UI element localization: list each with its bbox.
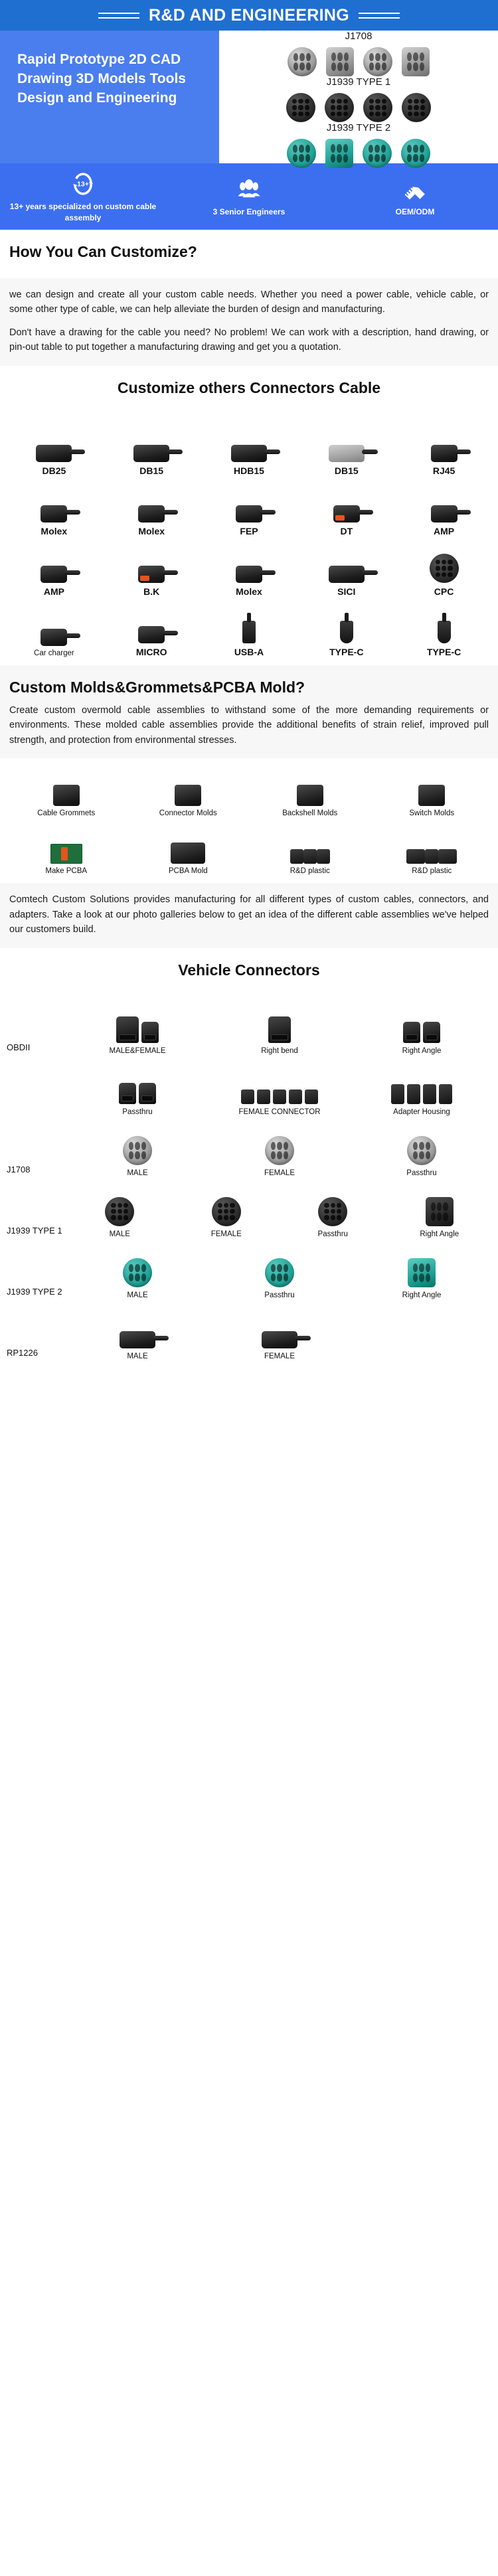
connector-j1939t1-2 <box>325 93 354 122</box>
connectors-gallery: DB25 DB15 HDB15 DB15 RJ45 Molex <box>0 414 498 665</box>
vehicle-row-j1939-type1: J1939 TYPE 1 MALE FEMALE Passthru Right … <box>0 1180 498 1241</box>
customize-title: How You Can Customize? <box>9 243 489 261</box>
vehicle-row-label: J1939 TYPE 2 <box>5 1287 66 1299</box>
stat-engineers: 3 Senior Engineers <box>166 175 332 218</box>
vehicle-cell-female-connector[interactable]: FEMALE CONNECTOR <box>208 1062 351 1116</box>
connector-caption: HDB15 <box>234 465 264 476</box>
vehicle-cell-j1939t1-male[interactable]: MALE <box>66 1184 173 1238</box>
connector-caption: DB15 <box>139 465 163 476</box>
j1939t1-passthru-icon <box>318 1184 347 1226</box>
plug-molex-angled-icon <box>138 481 165 523</box>
plug-micro-usb-icon <box>138 602 165 643</box>
mold-cell-make-pcba[interactable]: Make PCBA <box>5 819 127 876</box>
obd-passthru-pair-icon <box>119 1062 156 1104</box>
connector-j1939t1-1 <box>286 93 315 122</box>
solutions-paragraph-0: Comtech Custom Solutions provides manufa… <box>9 892 489 937</box>
mold-caption: Switch Molds <box>409 809 454 817</box>
vehicle-cell-rp1226-male[interactable]: MALE <box>66 1306 208 1360</box>
connector-caption: TYPE-C <box>427 647 461 657</box>
molds-prose: Create custom overmold cable assemblies … <box>9 703 489 748</box>
mold-caption: Make PCBA <box>45 867 87 875</box>
banner-title: R&D AND ENGINEERING <box>149 6 349 25</box>
pcba-mold-box-icon <box>171 823 205 864</box>
mold-cable-grommet-icon <box>53 765 80 806</box>
vehicle-caption: Passthru <box>264 1291 294 1299</box>
vehicle-row-j1939-type2: J1939 TYPE 2 MALE Passthru Right Angle <box>0 1241 498 1302</box>
mold-caption: PCBA Mold <box>169 867 208 875</box>
connector-j1708-3 <box>363 47 392 76</box>
plug-dsub-black-cable-icon <box>231 421 267 462</box>
vehicle-connectors-gallery: OBDII MALE&FEMALE Right bend Right Angle… <box>0 997 498 1363</box>
vehicle-row-j1708: J1708 MALE FEMALE Passthru <box>0 1119 498 1180</box>
j1708-passthru-icon <box>407 1123 436 1165</box>
vehicle-row-label: RP1226 <box>5 1348 66 1360</box>
svg-text:13+: 13+ <box>77 180 89 188</box>
connector-cell-molex-1[interactable]: Molex <box>5 477 103 538</box>
stat-engineers-text: 3 Senior Engineers <box>213 206 286 218</box>
connector-cell-dsub-db15[interactable]: DB15 <box>103 417 201 477</box>
vehicle-cell-j1939t2-right-angle[interactable]: Right Angle <box>351 1245 493 1299</box>
vehicle-caption: Right Angle <box>402 1047 442 1055</box>
connector-cell-amp-2[interactable]: AMP <box>5 538 103 598</box>
rd-engineering-banner: R&D AND ENGINEERING <box>0 0 498 31</box>
molds-row-0: Cable Grommets Connector Molds Backshell… <box>5 761 493 819</box>
j1708-male-icon <box>123 1123 152 1165</box>
hero-section: Rapid Prototype 2D CAD Drawing 3D Models… <box>0 31 498 163</box>
connector-cell-type-c-1[interactable]: TYPE-C <box>297 598 395 659</box>
plug-sici-scsi-icon <box>329 542 365 583</box>
company-stats-strip: 13+ 13+ years specialized on custom cabl… <box>0 163 498 230</box>
mold-cell-connector-molds[interactable]: Connector Molds <box>127 761 250 819</box>
connector-caption: Car charger <box>34 649 74 657</box>
connector-cell-molex-3[interactable]: Molex <box>201 538 298 598</box>
vehicle-cell-passthru[interactable]: Passthru <box>66 1062 208 1116</box>
obd-female-group-icon <box>241 1062 318 1104</box>
vehicle-caption: Passthru <box>318 1230 348 1238</box>
obd-right-angle-icon <box>403 1001 440 1043</box>
vehicle-cell-j1939t1-right-angle[interactable]: Right Angle <box>386 1184 493 1238</box>
stat-years: 13+ 13+ years specialized on custom cabl… <box>0 169 166 224</box>
plug-amp-round-icon <box>41 542 67 583</box>
vehicle-cell-j1708-passthru[interactable]: Passthru <box>351 1123 493 1177</box>
connectors-row-0: DB25 DB15 HDB15 DB15 RJ45 <box>5 417 493 477</box>
vehicle-caption: MALE <box>110 1230 130 1238</box>
vehicle-caption: Right Angle <box>402 1291 442 1299</box>
plug-rj45-icon <box>431 421 457 462</box>
hero-product-label-0: J1708 <box>219 31 498 42</box>
plug-dsub-gray-shell-icon <box>329 421 365 462</box>
hero-product-row-j1708 <box>219 42 498 76</box>
vehicle-caption: MALE <box>127 1352 147 1360</box>
vehicle-cell-j1939t1-female[interactable]: FEMALE <box>173 1184 280 1238</box>
rd-plastic-harness-icon <box>406 823 457 864</box>
vehicle-caption: FEMALE <box>211 1230 242 1238</box>
vehicle-cell-j1708-male[interactable]: MALE <box>66 1123 208 1177</box>
plug-dsub-white-cable-icon <box>133 421 169 462</box>
vehicle-cell-adapter-housing[interactable]: Adapter Housing <box>351 1062 493 1116</box>
vehicle-cell-j1939t1-passthru[interactable]: Passthru <box>280 1184 386 1238</box>
stat-years-text: 13+ years specialized on custom cable as… <box>0 201 166 224</box>
connector-j1939t2-2 <box>325 139 353 168</box>
plug-usb-a-icon <box>242 602 256 643</box>
connector-caption: RJ45 <box>433 465 455 476</box>
mold-caption: R&D plastic <box>290 867 330 875</box>
vehicle-caption: MALE <box>127 1169 147 1177</box>
connector-cell-car-charger[interactable]: Car charger <box>5 598 103 659</box>
plug-type-c-screw-icon <box>438 602 451 643</box>
mold-caption: Connector Molds <box>159 809 217 817</box>
connector-j1939t2-1 <box>287 139 316 168</box>
connector-caption: CPC <box>434 586 454 597</box>
vehicle-caption: Passthru <box>122 1108 152 1116</box>
connector-caption: Molex <box>41 526 68 536</box>
j1939t1-female-icon <box>212 1184 241 1226</box>
connector-caption: USB-A <box>234 647 264 657</box>
hero-product-label-1: J1939 TYPE 1 <box>219 76 498 88</box>
connector-cell-micro[interactable]: MICRO <box>103 598 201 659</box>
customize-title-block: How You Can Customize? <box>0 230 498 278</box>
molds-row-1: Make PCBA PCBA Mold R&D plastic R&D plas… <box>5 819 493 876</box>
hero-product-row-j1939t1 <box>219 88 498 122</box>
hero-headline: Rapid Prototype 2D CAD Drawing 3D Models… <box>17 50 202 108</box>
connector-caption: TYPE-C <box>329 647 363 657</box>
plug-molex-black-icon <box>41 481 67 523</box>
customize-prose: we can design and create all your custom… <box>0 278 498 366</box>
connectors-title: Customize others Connectors Cable <box>9 379 489 397</box>
plug-amp-black-icon <box>431 481 457 523</box>
connector-caption: Molex <box>236 586 262 597</box>
j1939t2-passthru-icon <box>265 1245 294 1287</box>
connector-caption: MICRO <box>136 647 167 657</box>
connector-caption: SICI <box>337 586 355 597</box>
rule-left-icon <box>98 13 139 19</box>
vehicle-cell-right-bend[interactable]: Right bend <box>208 1001 351 1055</box>
vehicle-caption: MALE&FEMALE <box>110 1047 166 1055</box>
vehicle-row-label: J1708 <box>5 1165 66 1177</box>
mold-cell-pcba-mold[interactable]: PCBA Mold <box>127 819 250 876</box>
connector-caption: DB25 <box>42 465 66 476</box>
molds-gallery: Cable Grommets Connector Molds Backshell… <box>0 758 498 883</box>
connector-j1708-4 <box>402 47 430 76</box>
vehicle-title-block: Vehicle Connectors <box>0 948 498 997</box>
connector-cell-dt[interactable]: DT <box>297 477 395 538</box>
mold-cell-rd-plastic-1[interactable]: R&D plastic <box>249 819 371 876</box>
mold-connector-icon <box>175 765 201 806</box>
rp1226-female-icon <box>262 1306 297 1348</box>
vehicle-caption: FEMALE CONNECTOR <box>238 1108 320 1116</box>
product-description-page: R&D AND ENGINEERING Rapid Prototype 2D C… <box>0 0 498 1363</box>
connectors-row-2: AMP B.K Molex SICI CPC <box>5 538 493 598</box>
customize-paragraph-1: Don't have a drawing for the cable you n… <box>9 325 489 355</box>
j1939t2-male-icon <box>123 1245 152 1287</box>
connector-j1939t2-4 <box>401 139 430 168</box>
rule-right-icon <box>359 13 400 19</box>
vehicle-caption: MALE <box>127 1291 147 1299</box>
j1939t2-right-angle-icon <box>408 1245 436 1287</box>
obd-male-female-icon <box>116 1001 159 1043</box>
j1939t1-right-angle-icon <box>426 1184 454 1226</box>
vehicle-cell-j1939t2-passthru[interactable]: Passthru <box>208 1245 351 1299</box>
connector-j1708-1 <box>288 47 317 76</box>
connector-cell-bk[interactable]: B.K <box>103 538 201 598</box>
mold-caption: R&D plastic <box>412 867 452 875</box>
connector-j1939t2-3 <box>363 139 392 168</box>
rp1226-male-icon <box>120 1306 155 1348</box>
connector-cell-amp-1[interactable]: AMP <box>395 477 493 538</box>
connector-cell-type-c-2[interactable]: TYPE-C <box>395 598 493 659</box>
j1708-female-icon <box>265 1123 294 1165</box>
vehicle-caption: Passthru <box>406 1169 436 1177</box>
vehicle-caption: FEMALE <box>264 1352 295 1360</box>
pencil-ruler-icon <box>401 175 429 204</box>
vehicle-cell-rp1226-female[interactable]: FEMALE <box>208 1306 351 1360</box>
rd-plastic-clips-icon <box>290 823 330 864</box>
vehicle-row-label <box>5 1113 66 1116</box>
mold-cell-rd-plastic-2[interactable]: R&D plastic <box>371 819 493 876</box>
connector-cell-usb-a[interactable]: USB-A <box>201 598 298 659</box>
vehicle-row-label: J1939 TYPE 1 <box>5 1226 66 1238</box>
mold-backshell-icon <box>297 765 323 806</box>
vehicle-row-label: OBDII <box>5 1042 66 1055</box>
plug-bk-orange-icon <box>138 542 165 583</box>
plug-cpc-circular-icon <box>430 542 459 583</box>
connectors-title-block: Customize others Connectors Cable <box>0 366 498 414</box>
connectors-row-1: Molex Molex FEP DT AMP <box>5 477 493 538</box>
connector-caption: FEP <box>240 526 258 536</box>
vehicle-caption: Adapter Housing <box>393 1108 450 1116</box>
connector-cell-hdb15[interactable]: HDB15 <box>201 417 298 477</box>
connectors-row-3: Car charger MICRO USB-A TYPE-C TYPE-C <box>5 598 493 659</box>
j1939t1-male-icon <box>105 1184 134 1226</box>
molds-title: Custom Molds&Grommets&PCBA Mold? <box>9 679 489 696</box>
vehicle-caption: FEMALE <box>264 1169 295 1177</box>
vehicle-connectors-title: Vehicle Connectors <box>9 961 489 979</box>
connector-cell-dsub-db25[interactable]: DB25 <box>5 417 103 477</box>
molds-section: Custom Molds&Grommets&PCBA Mold? Create … <box>0 665 498 758</box>
connector-caption: AMP <box>434 526 454 536</box>
connector-caption: Molex <box>138 526 165 536</box>
connector-caption: DT <box>340 526 353 536</box>
solutions-prose: Comtech Custom Solutions provides manufa… <box>0 883 498 947</box>
mold-switch-icon <box>418 765 445 806</box>
hero-product-panel: J1708 J1939 TYPE 1 J1939 TYPE 2 <box>219 31 498 163</box>
plug-molex-micro-icon <box>236 542 262 583</box>
connector-caption: AMP <box>44 586 64 597</box>
stat-oem: OEM/ODM <box>332 175 498 218</box>
plug-dt-orange-icon <box>333 481 360 523</box>
vehicle-row-rp1226: RP1226 MALE FEMALE <box>0 1302 498 1363</box>
vehicle-cell-j1939t2-male[interactable]: MALE <box>66 1245 208 1299</box>
molds-paragraph-0: Create custom overmold cable assemblies … <box>9 703 489 748</box>
connector-cell-molex-2[interactable]: Molex <box>103 477 201 538</box>
connector-cell-db15-gray[interactable]: DB15 <box>297 417 395 477</box>
stat-oem-text: OEM/ODM <box>396 206 435 218</box>
mold-cell-switch-molds[interactable]: Switch Molds <box>371 761 493 819</box>
engineers-group-icon <box>235 175 263 204</box>
connector-j1708-2 <box>326 47 354 76</box>
connector-j1939t1-4 <box>402 93 431 122</box>
connector-cell-rj45[interactable]: RJ45 <box>395 417 493 477</box>
hero-product-label-2: J1939 TYPE 2 <box>219 122 498 133</box>
obd-adapter-housing-icon <box>391 1062 452 1104</box>
vehicle-cell-male-female[interactable]: MALE&FEMALE <box>66 1001 208 1055</box>
plug-car-charger-icon <box>41 605 67 646</box>
recycle-13plus-icon: 13+ <box>69 169 97 199</box>
plug-type-c-icon <box>340 602 353 643</box>
customize-paragraph-0: we can design and create all your custom… <box>9 287 489 317</box>
connector-cell-fep[interactable]: FEP <box>201 477 298 538</box>
plug-fep-round-icon <box>236 481 262 523</box>
obd-right-bend-icon <box>268 1001 291 1043</box>
vehicle-cell-right-angle[interactable]: Right Angle <box>351 1001 493 1055</box>
mold-caption: Cable Grommets <box>37 809 95 817</box>
connector-caption: B.K <box>143 586 159 597</box>
mold-cell-backshell-molds[interactable]: Backshell Molds <box>249 761 371 819</box>
vehicle-caption: Right Angle <box>420 1230 459 1238</box>
vehicle-caption: Right bend <box>261 1047 298 1055</box>
mold-caption: Backshell Molds <box>282 809 337 817</box>
mold-cell-cable-grommets[interactable]: Cable Grommets <box>5 761 127 819</box>
connector-cell-cpc[interactable]: CPC <box>395 538 493 598</box>
vehicle-row-obdii: OBDII MALE&FEMALE Right bend Right Angle <box>0 997 498 1058</box>
hero-text-panel: Rapid Prototype 2D CAD Drawing 3D Models… <box>0 31 219 163</box>
pcba-board-icon <box>50 823 82 864</box>
connector-j1939t1-3 <box>363 93 392 122</box>
connector-cell-sici[interactable]: SICI <box>297 538 395 598</box>
plug-dsub-gray-cable-icon <box>36 421 72 462</box>
hero-product-row-j1939t2 <box>219 133 498 168</box>
vehicle-row-obdii-2: Passthru FEMALE CONNECTOR Adapter Housin… <box>0 1058 498 1119</box>
connector-caption: DB15 <box>335 465 359 476</box>
vehicle-cell-j1708-female[interactable]: FEMALE <box>208 1123 351 1177</box>
